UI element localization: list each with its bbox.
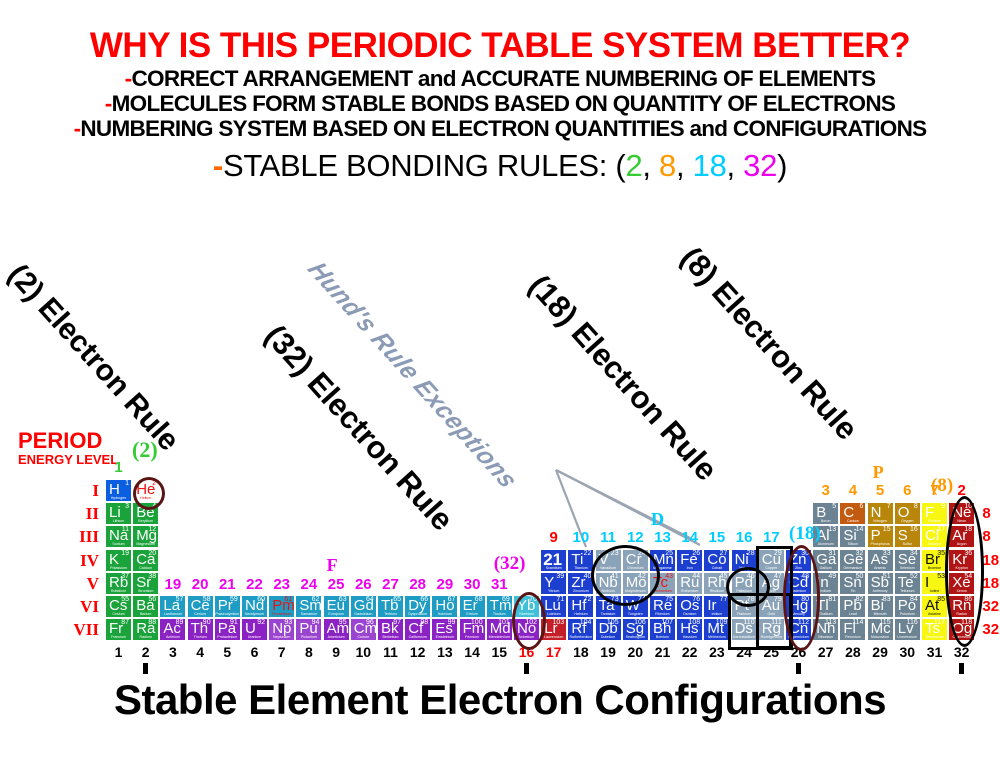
group-number-1: 1 (105, 644, 132, 660)
element-name: Fermium (460, 635, 485, 640)
element-cell-magnesium[interactable]: Mg12Magnesium (132, 525, 159, 548)
block-label-p-paren: (8) (931, 475, 953, 497)
group-number-31: 31 (921, 644, 948, 660)
element-cell-calcium[interactable]: Ca20Calcium (132, 549, 159, 572)
element-name: Strontium (133, 589, 158, 594)
period-row-label-V: V (73, 574, 99, 594)
atomic-number: 44 (692, 573, 700, 581)
rules-dash-icon: - (213, 148, 223, 183)
atomic-number: 64 (366, 596, 374, 604)
element-name: Actinium (160, 635, 185, 640)
element-name: Thulium (487, 612, 512, 617)
annotation-8-electron-rule: (8) Electron Rule (673, 240, 865, 447)
group-number-11: 11 (377, 644, 404, 660)
period-row-label-VII: VII (73, 620, 99, 640)
atomic-number: 109 (716, 619, 728, 627)
element-cell-francium[interactable]: Fr87Francium (105, 618, 132, 641)
element-cell-carbon[interactable]: C6Carbon (839, 502, 866, 525)
atomic-number: 113 (825, 619, 836, 627)
element-cell-berkelium[interactable]: Bk97Berkelium (377, 618, 404, 641)
element-name: Plutonium (296, 635, 321, 640)
element-cell-iodine[interactable]: I53Iodine (921, 572, 948, 595)
element-name: Nihonium (813, 635, 838, 640)
element-name: Lawrencium (541, 635, 566, 640)
element-cell-mendelevium[interactable]: Md101Mendelevium (486, 618, 513, 641)
element-name: Phosphorus (868, 542, 893, 547)
element-cell-hassium[interactable]: Hs108Hassium (676, 618, 703, 641)
atomic-number: 106 (634, 619, 646, 627)
period-row-label-IV: IV (73, 551, 99, 571)
comma-2: , (676, 148, 693, 183)
atomic-number: 19 (121, 550, 129, 558)
atomic-number: 12 (148, 526, 156, 534)
atomic-number: 55 (121, 596, 129, 604)
element-name: Arsenic (868, 566, 893, 571)
element-cell-hydrogen[interactable]: H1Hydrogen (105, 479, 132, 502)
element-cell-uranium[interactable]: U92Uranium (241, 618, 268, 641)
element-name: Curium (351, 635, 376, 640)
atomic-number: 57 (176, 596, 184, 604)
group-number-23: 23 (703, 644, 730, 660)
atomic-number: 95 (339, 619, 347, 627)
element-cell-tellurium[interactable]: Te52Tellurium (894, 572, 921, 595)
rule-value-32: 32 (743, 148, 777, 183)
atomic-number: 32 (856, 550, 864, 558)
element-name: Sulfur (895, 542, 920, 547)
atomic-number: 39 (556, 573, 564, 581)
element-name: Dysprosium (405, 612, 430, 617)
group-number-29: 29 (867, 644, 894, 660)
element-cell-cesium[interactable]: Cs55Cesium (105, 595, 132, 618)
element-cell-oxygen[interactable]: O8Oxygen (894, 502, 921, 525)
column-number-24: 24 (295, 576, 322, 593)
element-name: Lithium (106, 519, 131, 524)
element-cell-neptunium[interactable]: Np93Neptunium (268, 618, 295, 641)
atomic-number: 33 (883, 550, 891, 558)
element-name: Antimony (868, 589, 893, 594)
element-cell-einsteinium[interactable]: Es99Einsteinium (431, 618, 458, 641)
atomic-number: 67 (448, 596, 456, 604)
atomic-number: 52 (910, 573, 918, 581)
element-cell-titanium[interactable]: Ti22Titanium (567, 549, 594, 572)
element-name: Erbium (460, 612, 485, 617)
element-cell-thulium[interactable]: Tm69Thulium (486, 595, 513, 618)
element-name: Yttrium (541, 589, 566, 594)
element-cell-bohrium[interactable]: Bh107Bohrium (649, 618, 676, 641)
atomic-number: 115 (879, 619, 890, 627)
column-number-5: 5 (867, 482, 894, 499)
bullet-1: -CORRECT ARRANGEMENT and ACCURATE NUMBER… (0, 66, 1000, 91)
element-cell-nitrogen[interactable]: N7Nitrogen (867, 502, 894, 525)
element-cell-lithium[interactable]: Li3Lithium (105, 502, 132, 525)
element-name: Promethium (269, 612, 294, 617)
atomic-number: 31 (828, 550, 836, 558)
element-cell-selenium[interactable]: Se34Selenium (894, 549, 921, 572)
atomic-number: 22 (584, 550, 592, 558)
group-number-18: 18 (567, 644, 594, 660)
column-number-14: 14 (676, 529, 703, 546)
element-name: Seaborgium (623, 635, 648, 640)
group-number-8: 8 (295, 644, 322, 660)
element-name: Tin (840, 589, 865, 594)
element-cell-bismuth[interactable]: Bi83Bismuth (867, 595, 894, 618)
group-number-7: 7 (268, 644, 295, 660)
element-name: Magnesium (133, 542, 158, 547)
atomic-number: 91 (230, 619, 238, 627)
element-name: Iodine (922, 589, 947, 594)
element-cell-potassium[interactable]: K19Potassium (105, 549, 132, 572)
atomic-number: 77 (720, 596, 728, 604)
atomic-number: 116 (907, 619, 918, 627)
atomic-number: 8 (914, 503, 918, 511)
group-number-27: 27 (812, 644, 839, 660)
atomic-number: 13 (828, 526, 836, 534)
element-cell-tin[interactable]: Sn50Tin (839, 572, 866, 595)
element-name: Nitrogen (868, 519, 893, 524)
atomic-number: 71 (556, 596, 564, 604)
group-marker-tick (796, 663, 801, 674)
atomic-number: 85 (937, 596, 945, 604)
element-cell-seaborgium[interactable]: Sg106Seaborgium (622, 618, 649, 641)
element-cell-osmium[interactable]: Os76Osmium (676, 595, 703, 618)
element-name: Protactinium (215, 635, 240, 640)
comma-3: , (727, 148, 744, 183)
header-block: WHY IS THIS PERIODIC TABLE SYSTEM BETTER… (0, 0, 1000, 184)
element-cell-yttrium[interactable]: Y39Yttrium (540, 572, 567, 595)
period-row-label-II: II (73, 504, 99, 524)
element-cell-silicon[interactable]: Si14Silicon (839, 525, 866, 548)
element-name: Mendelevium (487, 635, 512, 640)
group-number-5: 5 (214, 644, 241, 660)
element-cell-radium[interactable]: Ra88Radium (132, 618, 159, 641)
element-cell-plutonium[interactable]: Pu94Plutonium (295, 618, 322, 641)
element-name: Francium (106, 635, 131, 640)
group-number-30: 30 (894, 644, 921, 660)
highlight-noble-gases (945, 496, 984, 647)
element-name: Terbium (378, 612, 403, 617)
element-name: Praseodymium (215, 612, 240, 617)
atomic-number: 96 (366, 619, 374, 627)
atomic-number: 68 (475, 596, 483, 604)
atomic-number: 3 (125, 503, 129, 511)
atomic-number: 93 (284, 619, 292, 627)
element-name: Flerovium (840, 635, 865, 640)
group-number-21: 21 (649, 644, 676, 660)
element-name: Tungsten (623, 612, 648, 617)
atomic-number: 5 (832, 503, 836, 511)
atomic-number: 62 (312, 596, 320, 604)
stable-count-5: 18 (982, 575, 1000, 592)
element-cell-chlorine[interactable]: Cl17Chlorine (921, 525, 948, 548)
element-cell-ruthenium[interactable]: Ru44Ruthenium (676, 572, 703, 595)
atomic-number: 87 (121, 619, 129, 627)
element-name: Rutherfordium (568, 635, 593, 640)
group-marker-tick (959, 663, 964, 674)
atomic-number: 25 (665, 550, 673, 558)
element-cell-actinium[interactable]: Ac89Actinium (159, 618, 186, 641)
element-cell-barium[interactable]: Ba56Barium (132, 595, 159, 618)
element-name: Zirconium (568, 589, 593, 594)
column-number-28: 28 (404, 576, 431, 593)
element-cell-cobalt[interactable]: Co27Cobalt (703, 549, 730, 572)
element-name: Einsteinium (432, 635, 457, 640)
element-cell-lead[interactable]: Pb82Lead (839, 595, 866, 618)
column-number-23: 23 (268, 576, 295, 593)
element-cell-iron[interactable]: Fe26Iron (676, 549, 703, 572)
atomic-number: 92 (257, 619, 265, 627)
bullet-1-text: CORRECT ARRANGEMENT and ACCURATE NUMBERI… (131, 66, 875, 91)
atomic-number: 114 (852, 619, 863, 627)
element-name: Silicon (840, 542, 865, 547)
element-name: Holmium (432, 612, 457, 617)
element-cell-neodymium[interactable]: Nd60Neodymium (241, 595, 268, 618)
atomic-number: 90 (203, 619, 211, 627)
comma-1: , (642, 148, 659, 183)
stable-count-7: 32 (982, 621, 1000, 638)
group-marker-tick (143, 663, 148, 674)
element-cell-phosphorus[interactable]: P15Phosphorus (867, 525, 894, 548)
group-number-17: 17 (540, 644, 567, 660)
element-name: Rhenium (650, 612, 675, 617)
element-name: Thorium (188, 635, 213, 640)
element-cell-cerium[interactable]: Ce58Cerium (187, 595, 214, 618)
atomic-number: 97 (393, 619, 401, 627)
period-caption-line1: PERIOD (18, 430, 118, 452)
bullet-3: -NUMBERING SYSTEM BASED ON ELECTRON QUAN… (0, 116, 1000, 141)
stable-count-4: 18 (982, 552, 1000, 569)
element-cell-flerovium[interactable]: Fl114Flerovium (839, 618, 866, 641)
column-number-4: 4 (839, 482, 866, 499)
element-cell-iridium[interactable]: Ir77Iridium (703, 595, 730, 618)
column-number-21: 21 (214, 576, 241, 593)
atomic-number: 81 (828, 596, 836, 604)
block-label-d: D (651, 509, 664, 530)
column-number-20: 20 (187, 576, 214, 593)
element-cell-dysprosium[interactable]: Dy66Dysprosium (404, 595, 431, 618)
element-name: Oxygen (895, 519, 920, 524)
bullet-dash-icon: - (105, 91, 112, 116)
element-cell-boron[interactable]: B5Boron (812, 502, 839, 525)
element-name: Chlorine (922, 542, 947, 547)
period-row-label-VI: VI (73, 597, 99, 617)
atomic-number: 38 (148, 573, 156, 581)
element-name: Lanthanum (160, 612, 185, 617)
element-name: Uranium (242, 635, 267, 640)
element-cell-hafnium[interactable]: Hf72Hafnium (567, 595, 594, 618)
element-cell-scandium[interactable]: 21Scandium (540, 549, 567, 572)
element-cell-rhenium[interactable]: Re75Rhenium (649, 595, 676, 618)
column-number-6: 6 (894, 482, 921, 499)
element-cell-americium[interactable]: Am95Americium (323, 618, 350, 641)
column-number-19: 19 (159, 576, 186, 593)
column-number-9: 9 (540, 529, 567, 546)
column-number-27: 27 (377, 576, 404, 593)
highlight-hund-v-cr-nb-mo (591, 545, 660, 606)
element-cell-samarium[interactable]: Sm62Samarium (295, 595, 322, 618)
element-cell-sulfur[interactable]: S16Sulfur (894, 525, 921, 548)
atomic-number: 72 (584, 596, 592, 604)
element-cell-sodium[interactable]: Na11Sodium (105, 525, 132, 548)
element-cell-curium[interactable]: Cm96Curium (350, 618, 377, 641)
atomic-number: 89 (176, 619, 184, 627)
bullet-3-text: NUMBERING SYSTEM BASED ON ELECTRON QUANT… (80, 116, 926, 141)
element-cell-thorium[interactable]: Th90Thorium (187, 618, 214, 641)
column-number-30: 30 (459, 576, 486, 593)
element-cell-gadolinium[interactable]: Gd64Gadolinium (350, 595, 377, 618)
element-cell-fermium[interactable]: Fm100Fermium (459, 618, 486, 641)
atomic-number: 107 (661, 619, 673, 627)
element-cell-protactinium[interactable]: Pa91Protactinium (214, 618, 241, 641)
element-name: Lead (840, 612, 865, 617)
element-cell-dubnium[interactable]: Db105Dubnium (595, 618, 622, 641)
element-cell-terbium[interactable]: Tb65Terbium (377, 595, 404, 618)
atomic-number: 59 (230, 596, 238, 604)
rule-value-18: 18 (693, 148, 727, 183)
element-cell-moscovium[interactable]: Mc115Moscovium (867, 618, 894, 641)
element-name: Astatine (922, 612, 947, 617)
element-name: Beryllium (133, 519, 158, 524)
column-number-1: 1 (105, 459, 132, 476)
rule-value-8: 8 (659, 148, 676, 183)
element-cell-livermorium[interactable]: Lv116Livermorium (894, 618, 921, 641)
periodic-table[interactable]: H1HydrogenHe2HeliumLi3LithiumBe4Berylliu… (0, 455, 1000, 655)
element-name: Neptunium (269, 635, 294, 640)
element-name: Californium (405, 635, 430, 640)
group-number-20: 20 (622, 644, 649, 660)
atomic-number: 6 (859, 503, 863, 511)
element-name: Polonium (895, 612, 920, 617)
element-name: Osmium (677, 612, 702, 617)
atomic-number: 53 (937, 573, 945, 581)
element-cell-astatine[interactable]: At85Astatine (921, 595, 948, 618)
stable-bonding-rules: -STABLE BONDING RULES: (2, 8, 18, 32) (0, 148, 1000, 184)
atomic-number: 20 (148, 550, 156, 558)
element-cell-promethium[interactable]: Pm61Promethium (268, 595, 295, 618)
atomic-number: 56 (148, 596, 156, 604)
group-number-9: 9 (323, 644, 350, 660)
element-cell-europium[interactable]: Eu63Europium (323, 595, 350, 618)
element-cell-rubidium[interactable]: Rb37Rubidium (105, 572, 132, 595)
atomic-number: 83 (883, 596, 891, 604)
atomic-number: 63 (339, 596, 347, 604)
element-name: Cerium (188, 612, 213, 617)
element-name: Tellurium (895, 589, 920, 594)
element-cell-meitnerium[interactable]: Mt109Meitnerium (703, 618, 730, 641)
atomic-number: 105 (607, 619, 619, 627)
atomic-number: 88 (148, 619, 156, 627)
element-cell-fluorine[interactable]: F9Fluorine (921, 502, 948, 525)
stable-count-2: 8 (982, 505, 1000, 522)
element-cell-germanium[interactable]: Ge32Germanium (839, 549, 866, 572)
atomic-number: 34 (910, 550, 918, 558)
element-cell-antimony[interactable]: Sb51Antimony (867, 572, 894, 595)
highlight-zinc-group (783, 545, 820, 651)
atomic-number: 50 (856, 573, 864, 581)
page-title: WHY IS THIS PERIODIC TABLE SYSTEM BETTER… (0, 26, 1000, 66)
element-cell-strontium[interactable]: Sr38Strontium (132, 572, 159, 595)
element-name: Dubnium (596, 635, 621, 640)
element-name: Cesium (106, 612, 131, 617)
rules-label: STABLE BONDING RULES: ( (223, 148, 626, 183)
element-name: Samarium (296, 612, 321, 617)
element-name: Cobalt (704, 566, 729, 571)
rule-value-2: 2 (625, 148, 642, 183)
group-number-4: 4 (187, 644, 214, 660)
group-number-6: 6 (241, 644, 268, 660)
group-marker-tick (524, 663, 529, 674)
column-number-3: 3 (812, 482, 839, 499)
element-name: Moscovium (868, 635, 893, 640)
column-number-17: 17 (758, 529, 785, 546)
element-name: Bromine (922, 566, 947, 571)
element-name: Rubidium (106, 589, 131, 594)
element-cell-polonium[interactable]: Po84Polonium (894, 595, 921, 618)
group-number-3: 3 (159, 644, 186, 660)
atomic-number: 66 (420, 596, 428, 604)
element-name: Ruthenium (677, 589, 702, 594)
element-name: Tantalum (596, 612, 621, 617)
element-cell-californium[interactable]: Cf98Californium (404, 618, 431, 641)
element-name: Neodymium (242, 612, 267, 617)
element-name: Titanium (568, 566, 593, 571)
group-number-15: 15 (486, 644, 513, 660)
block-label-f: F (327, 555, 338, 576)
highlight-helium (133, 477, 165, 510)
bullet-2: -MOLECULES FORM STABLE BONDS BASED ON QU… (0, 91, 1000, 116)
element-name: Hafnium (568, 612, 593, 617)
atomic-number: 61 (284, 596, 292, 604)
atomic-number: 94 (312, 619, 320, 627)
rules-close: ) (777, 148, 787, 183)
column-number-22: 22 (241, 576, 268, 593)
element-cell-erbium[interactable]: Er68Erbium (459, 595, 486, 618)
atomic-number: 100 (471, 619, 483, 627)
atomic-number: 43 (665, 573, 673, 581)
element-name: Carbon (840, 519, 865, 524)
atomic-number: 60 (257, 596, 265, 604)
element-cell-tennessine[interactable]: Ts117Tennessine (921, 618, 948, 641)
element-cell-holmium[interactable]: Ho67Holmium (431, 595, 458, 618)
atomic-number: 117 (934, 619, 945, 627)
column-number-25: 25 (323, 576, 350, 593)
atomic-number: 15 (883, 526, 891, 534)
element-name: Tennessine (922, 635, 947, 640)
atomic-number: 65 (393, 596, 401, 604)
group-number-32: 32 (948, 644, 975, 660)
element-name: Selenium (895, 566, 920, 571)
atomic-number: 28 (747, 550, 755, 558)
column-number-16: 16 (731, 529, 758, 546)
period-row-label-III: III (73, 527, 99, 547)
atomic-number: 14 (856, 526, 864, 534)
atomic-number: 101 (498, 619, 510, 627)
highlight-pt-au-ds-rg (728, 593, 792, 650)
atomic-number: 108 (689, 619, 701, 627)
atomic-number: 76 (692, 596, 700, 604)
atomic-number: 9 (941, 503, 945, 511)
element-cell-rutherfordium[interactable]: Rf104Rutherfordium (567, 618, 594, 641)
element-cell-lanthanum[interactable]: La57Lanthanum (159, 595, 186, 618)
element-name: Iridium (704, 612, 729, 617)
group-number-2: 2 (132, 644, 159, 660)
element-cell-praseodymium[interactable]: Pr59Praseodymium (214, 595, 241, 618)
column-number-26: 26 (350, 576, 377, 593)
highlight-yb-no (512, 592, 546, 650)
group-number-28: 28 (839, 644, 866, 660)
element-cell-arsenic[interactable]: As33Arsenic (867, 549, 894, 572)
atomic-number: 26 (692, 550, 700, 558)
element-cell-bromine[interactable]: Br35Bromine (921, 549, 948, 572)
